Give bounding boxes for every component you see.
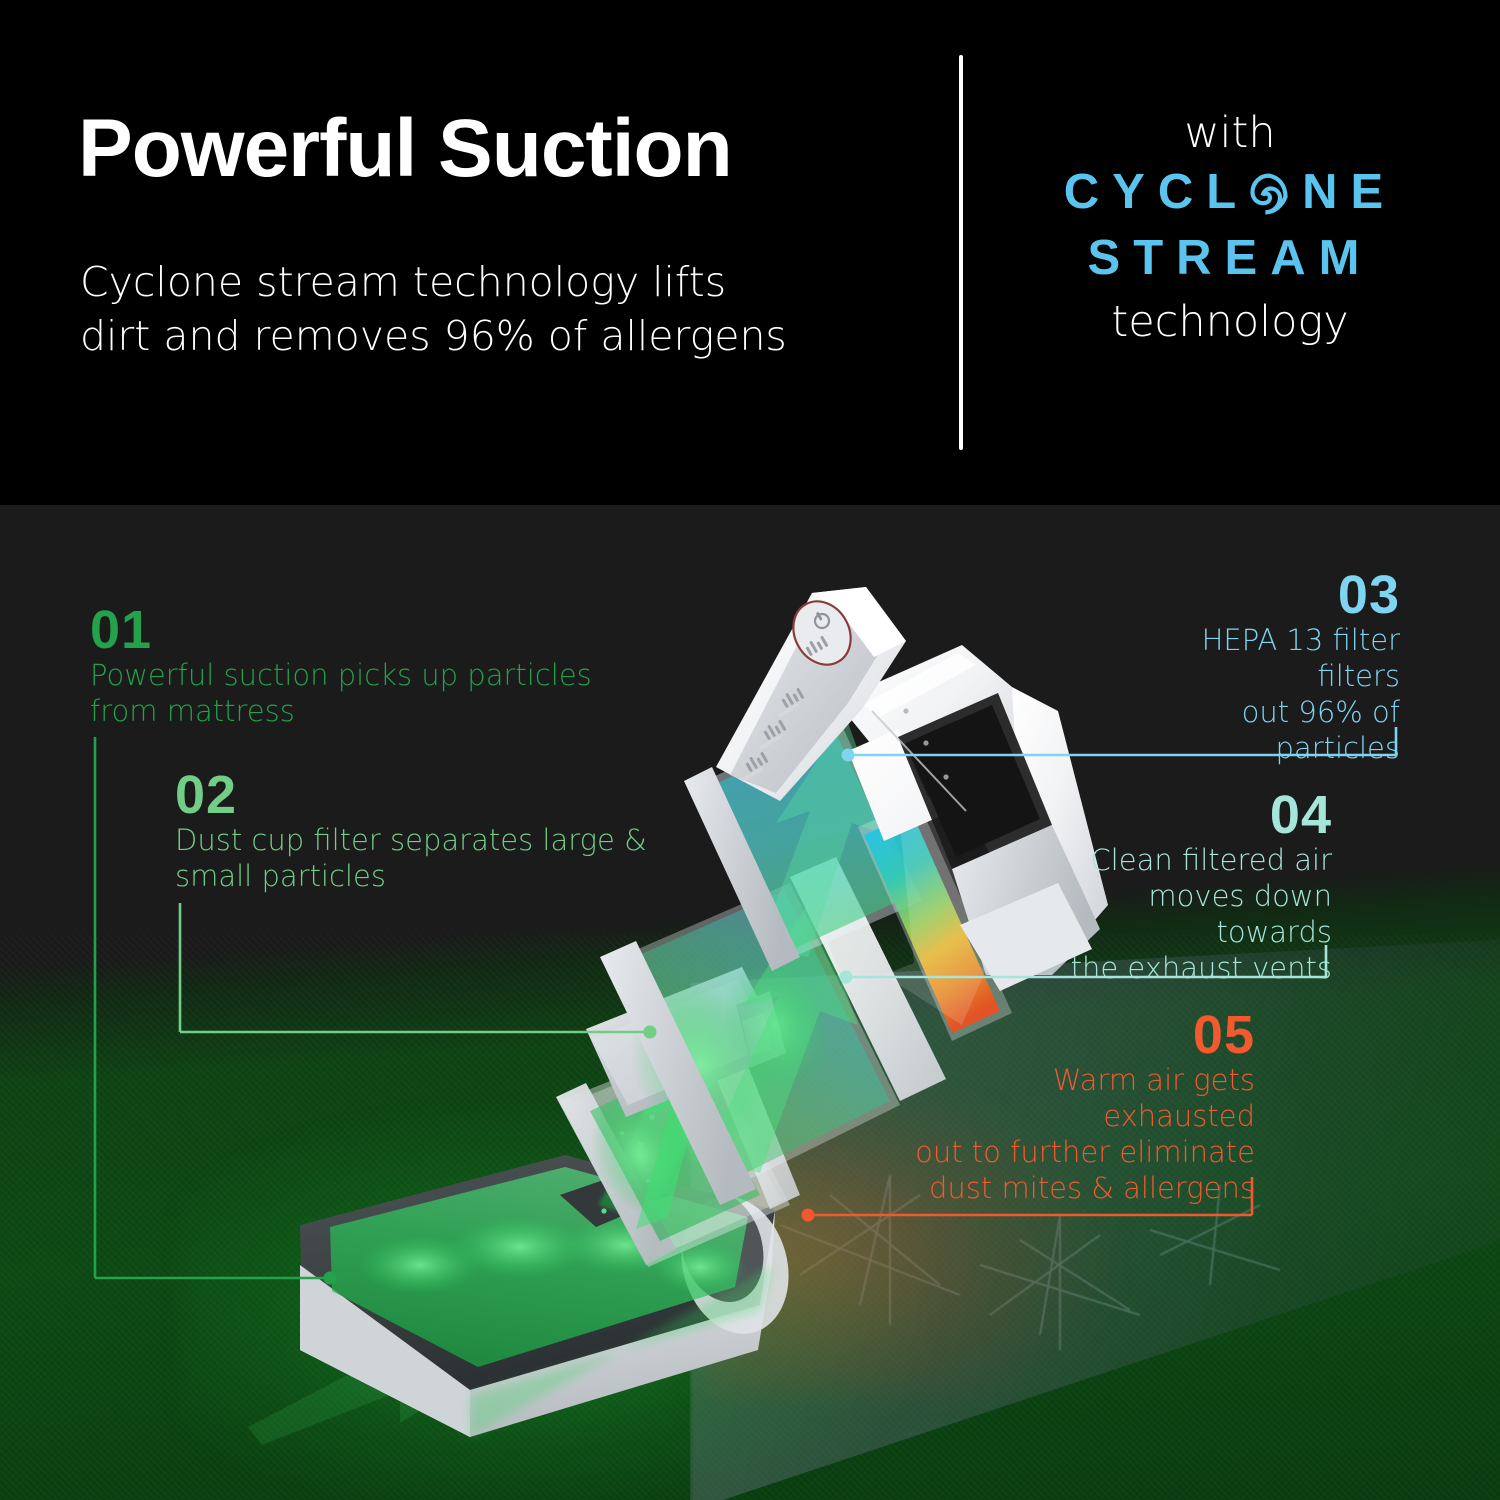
- brand-with-label: with: [980, 110, 1480, 157]
- brand-technology-label: technology: [980, 297, 1480, 347]
- callout-04: 04 Clean filtered air moves down towards…: [1050, 790, 1332, 987]
- header-section: Powerful Suction Cyclone stream technolo…: [0, 0, 1500, 505]
- header-divider: [959, 55, 963, 450]
- callout-04-text: Clean filtered air moves down towards th…: [1050, 843, 1332, 987]
- page-subtitle: Cyclone stream technology lifts dirt and…: [80, 255, 787, 363]
- cyclone-swirl-icon: [1247, 171, 1291, 215]
- brand-cyclone-after: NE: [1302, 163, 1396, 223]
- callout-01: 01 Powerful suction picks up particles f…: [90, 605, 592, 730]
- callout-02: 02 Dust cup filter separates large & sma…: [175, 770, 647, 895]
- callout-05: 05 Warm air gets exhausted out to furthe…: [895, 1010, 1255, 1207]
- brand-line-cyclone: CYCL NE: [980, 163, 1480, 223]
- callout-04-number: 04: [1050, 790, 1332, 841]
- callout-05-number: 05: [895, 1010, 1255, 1061]
- infographic-root: Powerful Suction Cyclone stream technolo…: [0, 0, 1500, 1500]
- page-title: Powerful Suction: [78, 108, 732, 190]
- brand-line-stream: STREAM: [980, 229, 1480, 289]
- callout-01-number: 01: [90, 605, 592, 656]
- leader-line-02: [180, 903, 657, 1039]
- callout-01-text: Powerful suction picks up particles from…: [90, 658, 592, 730]
- brand-lockup: with CYCL NE STREAM technology: [980, 110, 1480, 347]
- callout-02-text: Dust cup filter separates large & small …: [175, 823, 647, 895]
- callout-03: 03 HEPA 13 filter filters out 96% of par…: [1110, 570, 1400, 767]
- callout-03-text: HEPA 13 filter filters out 96% of partic…: [1110, 623, 1400, 767]
- callout-03-number: 03: [1110, 570, 1400, 621]
- callout-02-number: 02: [175, 770, 647, 821]
- callout-05-text: Warm air gets exhausted out to further e…: [895, 1063, 1255, 1207]
- brand-cyclone-before: CYCL: [1064, 163, 1249, 223]
- diagram-scene: 01 Powerful suction picks up particles f…: [0, 505, 1500, 1500]
